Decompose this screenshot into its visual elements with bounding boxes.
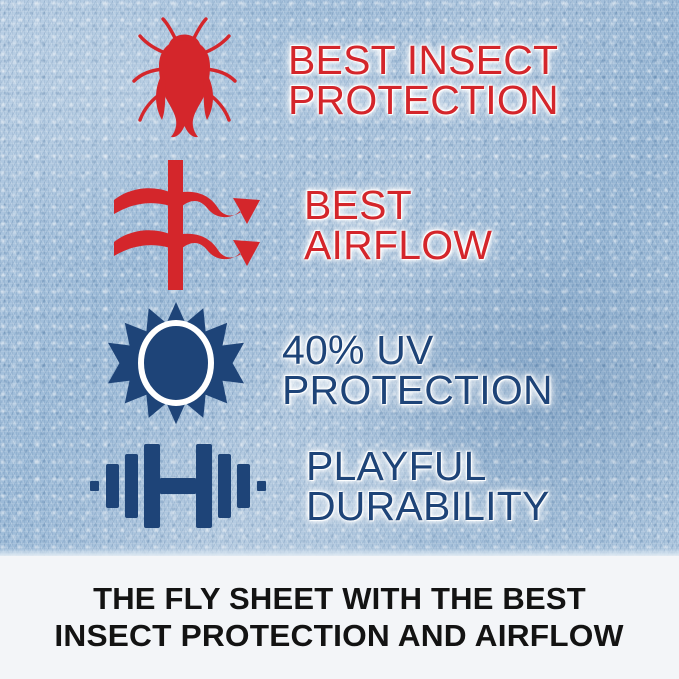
feature-list: BEST INSECT PROTECTION BEST AIRFLOW bbox=[0, 0, 679, 556]
feature-item-airflow: BEST AIRFLOW bbox=[100, 160, 492, 290]
feature-item-uv-protection: 40% UV PROTECTION bbox=[108, 302, 553, 438]
feature-item-durability: PLAYFUL DURABILITY bbox=[88, 440, 550, 532]
dumbbell-icon bbox=[88, 440, 268, 532]
feature-label-uv-protection: 40% UV PROTECTION bbox=[282, 330, 553, 410]
feature-label-insect-protection: BEST INSECT PROTECTION bbox=[288, 40, 559, 120]
sun-icon bbox=[108, 302, 244, 438]
feature-item-insect-protection: BEST INSECT PROTECTION bbox=[118, 14, 559, 146]
airflow-arrows-icon bbox=[100, 160, 260, 290]
caption-line-2: INSECT PROTECTION AND AIRFLOW bbox=[55, 618, 624, 655]
product-feature-infographic: BEST INSECT PROTECTION BEST AIRFLOW bbox=[0, 0, 679, 679]
feature-label-airflow: BEST AIRFLOW bbox=[304, 185, 492, 265]
caption-panel: THE FLY SHEET WITH THE BEST INSECT PROTE… bbox=[0, 556, 679, 679]
fly-icon bbox=[118, 14, 250, 146]
caption-line-1: THE FLY SHEET WITH THE BEST bbox=[93, 581, 586, 618]
feature-label-durability: PLAYFUL DURABILITY bbox=[306, 446, 550, 526]
